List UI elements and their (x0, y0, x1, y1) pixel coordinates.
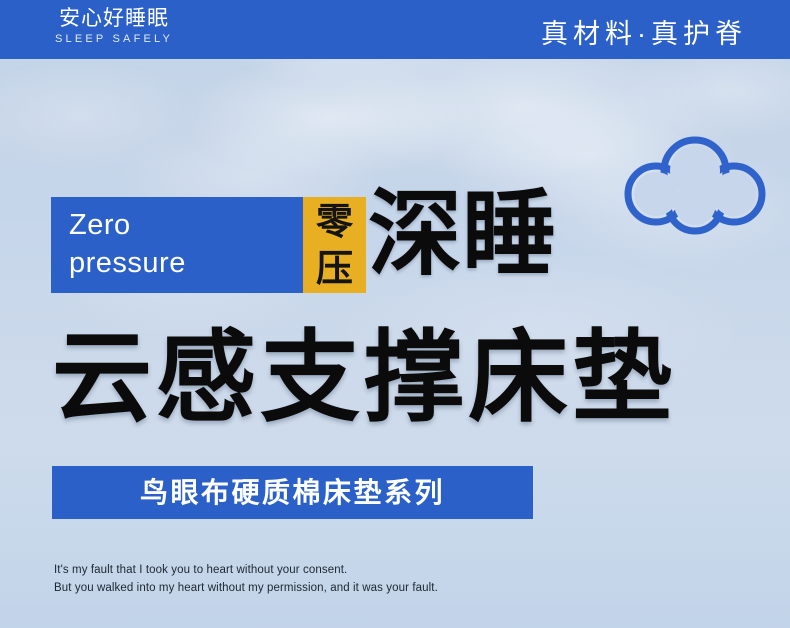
brand-name-en: SLEEP SAFELY (55, 34, 173, 45)
zero-pressure-yellow-block: 零 压 (303, 197, 366, 293)
subtitle-bar: 鸟眼布硬质棉床垫系列 (52, 466, 533, 519)
zero-pressure-blue-block: Zero pressure (51, 197, 303, 293)
header-bar: 安心好睡眠 SLEEP SAFELY 真材料·真护脊 (0, 0, 790, 59)
deep-sleep-headline: 深睡 (368, 184, 556, 284)
footnote-text: It's my fault that I took you to heart w… (54, 561, 438, 597)
zero-pressure-cn-label: 零 压 (303, 197, 366, 293)
page-title: 云感支撑床垫 (52, 322, 676, 434)
subtitle-label: 鸟眼布硬质棉床垫系列 (52, 466, 533, 519)
promo-banner: 安心好睡眠 SLEEP SAFELY 真材料·真护脊 Zero pressure… (0, 0, 790, 628)
cloud-outline-icon (620, 130, 770, 240)
brand-name-cn: 安心好睡眠 (55, 8, 173, 29)
brand-logo: 安心好睡眠 SLEEP SAFELY (55, 8, 173, 45)
zero-pressure-en-label: Zero pressure (69, 206, 186, 282)
header-tagline: 真材料·真护脊 (541, 12, 747, 51)
